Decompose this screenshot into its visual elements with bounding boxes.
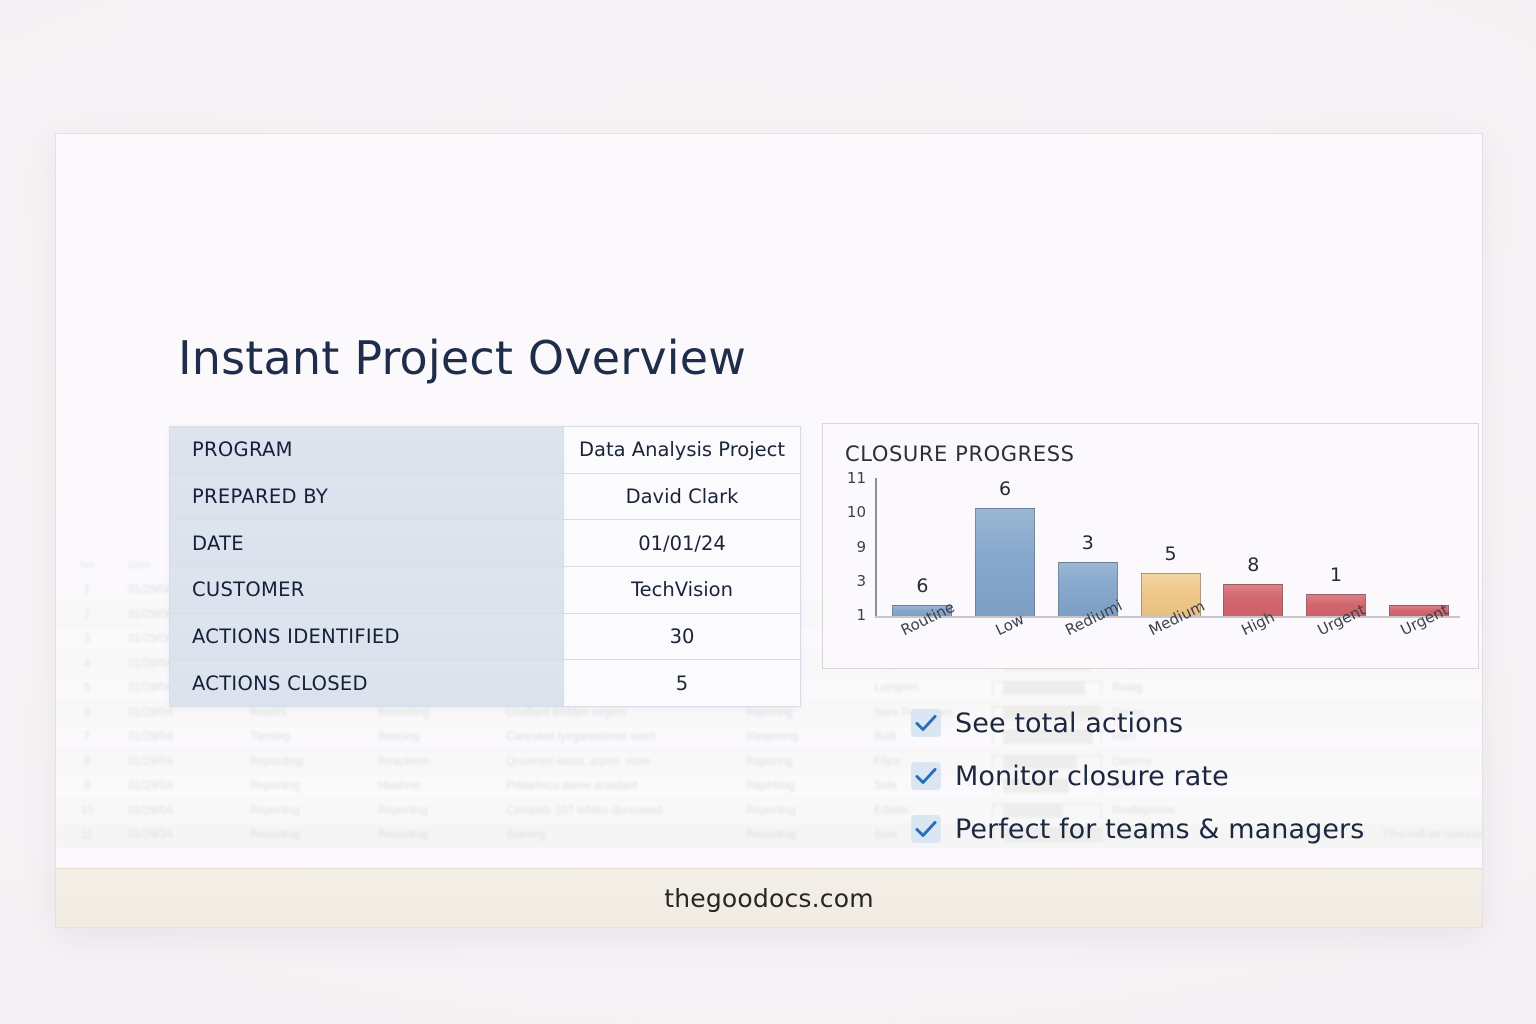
info-row-label: ACTIONS CLOSED: [170, 660, 564, 707]
ghost-cell: Baecing: [368, 731, 496, 743]
ghost-cell: Cancaled lyegarestonet voort: [496, 731, 736, 743]
info-row-value: David Clark: [564, 473, 801, 520]
info-table-row: DATE01/01/24: [170, 520, 801, 567]
bullet-item: Monitor closure rate: [911, 759, 1451, 793]
ghost-cell-date: 01/29/04: [118, 731, 240, 743]
check-icon: [911, 762, 941, 790]
ghost-cell-no: 4: [56, 658, 118, 670]
info-table-row: ACTIONS IDENTIFIED30: [170, 613, 801, 660]
ghost-cell: Reporting: [240, 780, 368, 792]
y-axis-tick-label: 1: [856, 606, 866, 624]
ghost-cell-date: 01/29/04: [118, 756, 240, 768]
ghost-cell-date: 01/29/04: [118, 707, 240, 719]
ghost-cell-date: 01/29/04: [118, 780, 240, 792]
bar-slot[interactable]: 6Low: [964, 478, 1047, 616]
info-row-value: Data Analysis Project: [564, 427, 801, 474]
ghost-cell: Reacleern: [368, 756, 496, 768]
bar[interactable]: [975, 508, 1035, 616]
bar-slot[interactable]: 5Medium: [1129, 478, 1212, 616]
ghost-cell: Raporing: [736, 707, 864, 719]
chart-title: CLOSURE PROGRESS: [845, 442, 1075, 466]
bullet-label: Monitor closure rate: [955, 761, 1229, 792]
info-row-value: 01/01/24: [564, 520, 801, 567]
info-row-value: 5: [564, 660, 801, 707]
ghost-cell: Raplrking: [736, 780, 864, 792]
bar-value-label: 1: [1330, 564, 1342, 586]
info-row-value: 30: [564, 613, 801, 660]
check-icon: [911, 815, 941, 843]
bullet-item: Perfect for teams & managers: [911, 812, 1451, 846]
ghost-cell: Reatirs: [240, 707, 368, 719]
ghost-cell-no: 8: [56, 756, 118, 768]
y-axis-tick-label: 11: [847, 469, 866, 487]
ghost-cell: Beeonting: [368, 707, 496, 719]
info-table-row: PROGRAMData Analysis Project: [170, 427, 801, 474]
ghost-cell: Lstngren: [864, 682, 992, 694]
ghost-cell: Tiecting: [240, 731, 368, 743]
ghost-cell: Reporting: [240, 805, 368, 817]
ghost-cell: Reporting: [736, 829, 864, 841]
y-axis-line: [875, 478, 877, 618]
bar-value-label: 5: [1164, 543, 1176, 565]
info-table-row: CUSTOMERTechVision: [170, 567, 801, 614]
info-table-row: ACTIONS CLOSED5: [170, 660, 801, 707]
project-info-table: PROGRAMData Analysis ProjectPREPARED BYD…: [169, 426, 801, 707]
ghost-cell-no: 9: [56, 780, 118, 792]
info-row-label: PREPARED BY: [170, 473, 564, 520]
bullet-item: See total actions: [911, 706, 1451, 740]
bar-slot[interactable]: 1Urgent: [1295, 478, 1378, 616]
bar-value-label: 6: [999, 478, 1011, 500]
ghost-cell: Repording: [240, 756, 368, 768]
ghost-cell-no: 6: [56, 707, 118, 719]
ghost-cell: Reporting: [368, 829, 496, 841]
info-table-row: PREPARED BYDavid Clark: [170, 473, 801, 520]
ghost-cell: Raporing: [736, 756, 864, 768]
ghost-cell-no: 1: [56, 584, 118, 596]
page-title: Instant Project Overview: [178, 331, 746, 385]
ghost-cell: Reporting: [240, 829, 368, 841]
y-axis-tick-label: 9: [856, 538, 866, 556]
ghost-cell-no: 7: [56, 731, 118, 743]
bullet-label: See total actions: [955, 708, 1183, 739]
bar-series: 6Routine6Low3Rediumi5Medium8High1UrgentU…: [881, 478, 1460, 616]
ghost-cell-no: 3: [56, 633, 118, 645]
ghost-cell-date: 01/29/04: [118, 805, 240, 817]
check-icon: [911, 709, 941, 737]
ghost-cell-bar: [992, 681, 1102, 695]
info-row-label: ACTIONS IDENTIFIED: [170, 613, 564, 660]
info-row-label: DATE: [170, 520, 564, 567]
ghost-cell: Cempaly 107 mfabs dpnoased: [496, 805, 736, 817]
bar-slot[interactable]: 3Rediumi: [1046, 478, 1129, 616]
bar-slot[interactable]: 8High: [1212, 478, 1295, 616]
bullet-label: Perfect for teams & managers: [955, 814, 1364, 845]
ghost-cell: Starting: [496, 829, 736, 841]
ghost-cell: Prbiarlivcs dame acastant: [496, 780, 736, 792]
ghost-cell: Unaflard Bhfdjer vegers: [496, 707, 736, 719]
ghost-cell: Hlashne: [368, 780, 496, 792]
bar[interactable]: [1223, 584, 1283, 616]
x-axis-tick-label: Routine: [898, 598, 957, 639]
info-row-label: PROGRAM: [170, 427, 564, 474]
ghost-cell: Rasporing: [736, 731, 864, 743]
ghost-cell-no: 10: [56, 805, 118, 817]
ghost-cell-no: 5: [56, 682, 118, 694]
info-row-value: TechVision: [564, 567, 801, 614]
ghost-cell: Reporting: [368, 805, 496, 817]
footer-url: thegoodocs.com: [664, 884, 874, 913]
ghost-cell: Reatg: [1102, 682, 1262, 694]
bar-value-label: 6: [916, 575, 928, 597]
chart-plot-area: 1110931 6Routine6Low3Rediumi5Medium8High…: [875, 478, 1460, 618]
ghost-cell-no: 2: [56, 609, 118, 621]
y-axis-tick-label: 10: [847, 503, 866, 521]
ghost-cell-date: 01/29/24: [118, 829, 240, 841]
bar-value-label: 3: [1082, 532, 1094, 554]
ghost-cell-no: 11: [56, 829, 118, 841]
info-row-label: CUSTOMER: [170, 567, 564, 614]
footer-band: thegoodocs.com: [56, 868, 1482, 927]
ghost-header-cell: No: [56, 560, 118, 571]
bar-slot[interactable]: Urgent: [1377, 478, 1460, 616]
ghost-cell: Reporting: [736, 805, 864, 817]
bar-slot[interactable]: 6Routine: [881, 478, 964, 616]
slide-card: No Date Owner Status Description Categor…: [55, 133, 1483, 928]
ghost-cell: Qocerterl wsnd, arpno. vtom: [496, 756, 736, 768]
y-axis-tick-label: 3: [856, 572, 866, 590]
bar-value-label: 8: [1247, 554, 1259, 576]
closure-progress-panel: CLOSURE PROGRESS 1110931 6Routine6Low3Re…: [822, 423, 1479, 669]
